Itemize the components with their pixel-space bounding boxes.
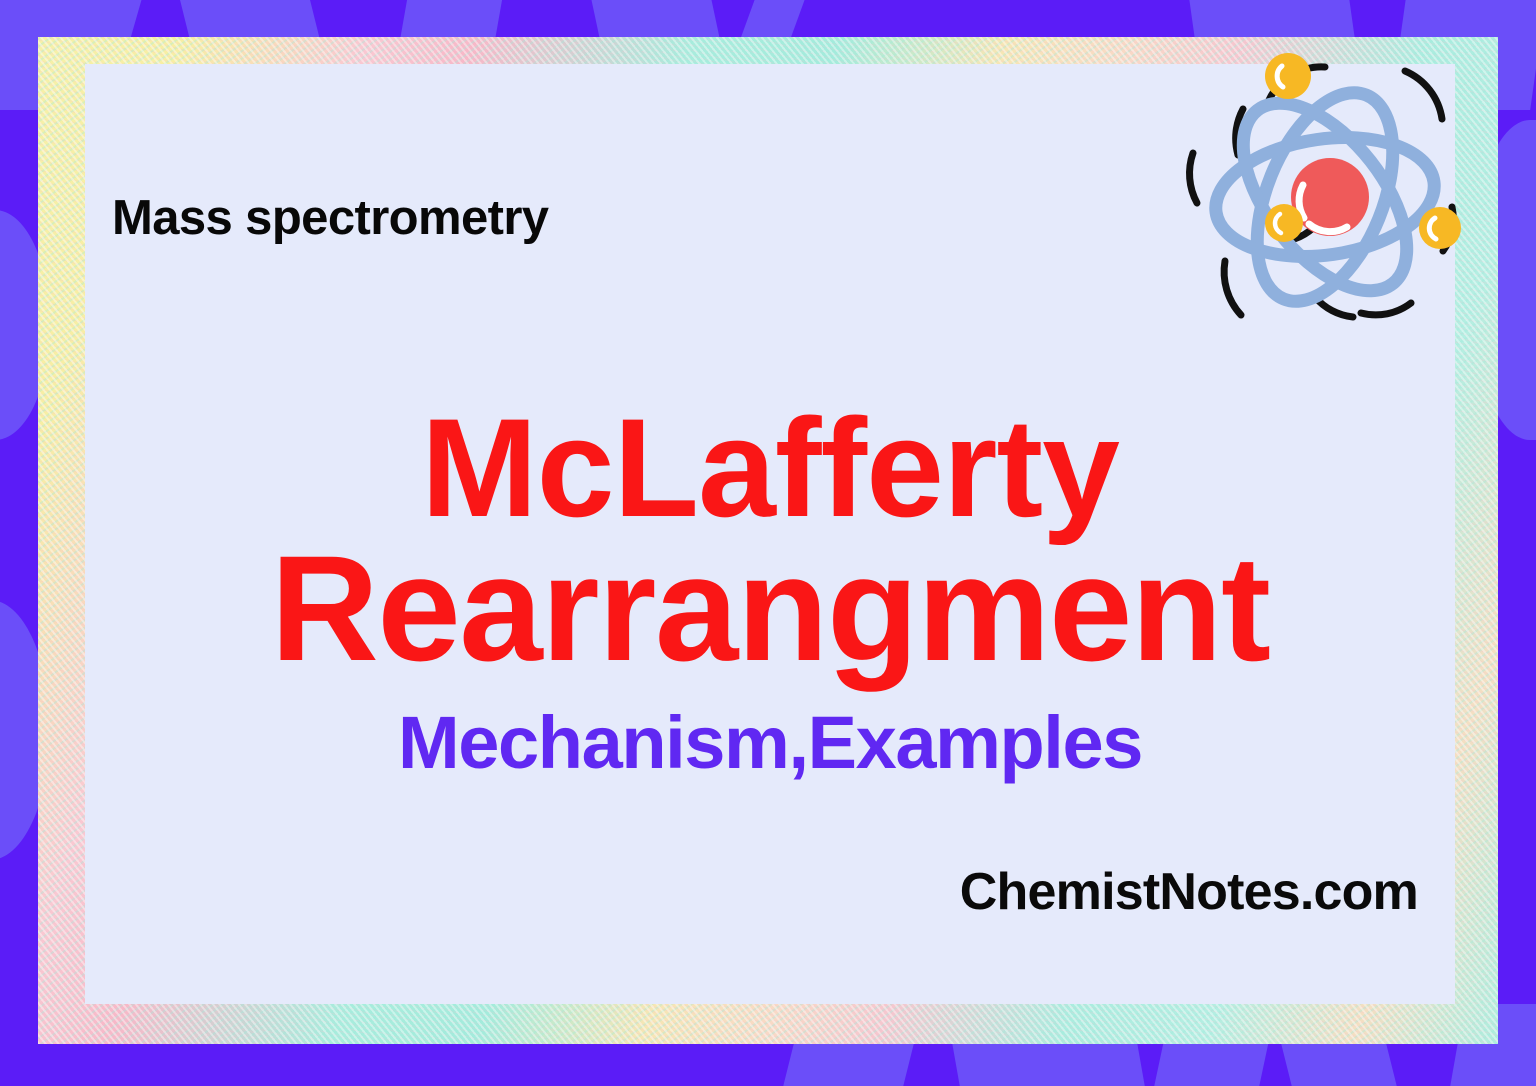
page-title: McLafferty Rearrangment — [85, 400, 1455, 681]
kicker-text: Mass spectrometry — [112, 194, 548, 243]
poster-canvas: Mass spectrometry McLafferty Rearrangmen… — [0, 0, 1536, 1086]
subtitle-text: Mechanism,Examples — [85, 706, 1455, 780]
title-line-1: McLafferty — [85, 400, 1455, 536]
atom-icon — [1175, 45, 1475, 345]
brand-watermark: ChemistNotes.com — [960, 866, 1418, 918]
title-line-2: Rearrangment — [85, 536, 1455, 682]
